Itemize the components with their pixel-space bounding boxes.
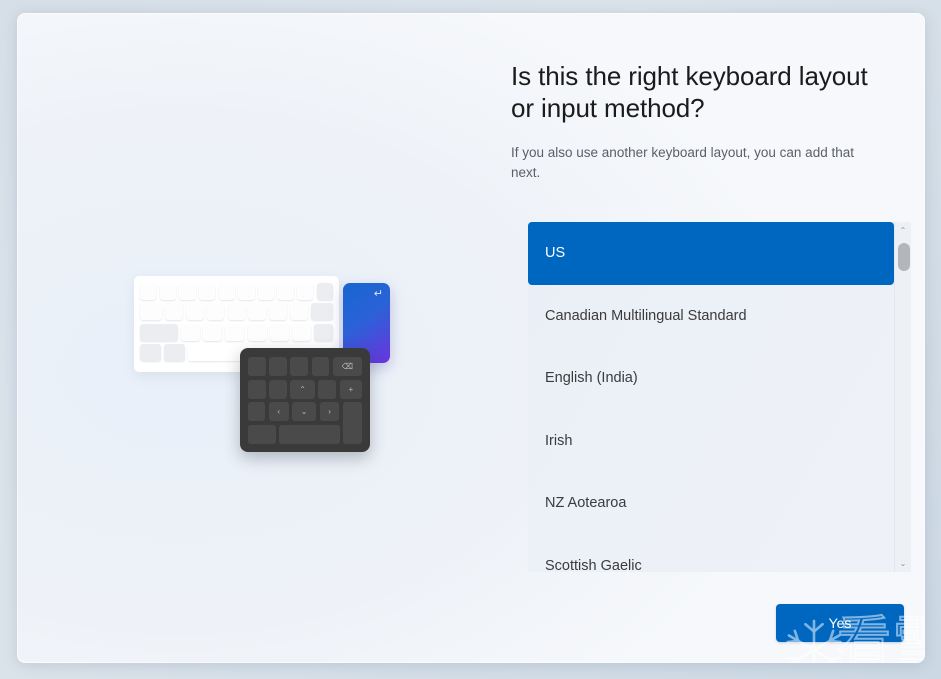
key — [269, 303, 287, 320]
arrow-left-icon: ‹ — [269, 402, 289, 421]
key — [179, 283, 195, 300]
key — [248, 324, 267, 341]
numpad-key — [248, 357, 266, 376]
key-modifier — [311, 303, 333, 320]
keyboard-row — [140, 283, 333, 300]
plus-icon: + — [340, 380, 362, 399]
key — [199, 283, 215, 300]
key — [207, 303, 225, 320]
key — [186, 303, 204, 320]
key — [292, 324, 311, 341]
key — [160, 283, 176, 300]
numpad-key — [312, 357, 330, 376]
key — [165, 303, 183, 320]
scrollbar-thumb[interactable] — [898, 243, 910, 271]
key-modifier — [140, 324, 178, 341]
numpad-graphic: ⌫ ⌃ + ‹ ⌄ › — [240, 348, 370, 452]
scroll-up-icon[interactable]: ⌃ — [895, 222, 912, 239]
numpad-key — [269, 357, 287, 376]
list-item-label: US — [545, 245, 565, 261]
list-item-label: Scottish Gaelic — [545, 558, 642, 572]
enter-arrow-icon: ↵ — [374, 289, 383, 300]
arrow-up-icon: ⌃ — [290, 380, 314, 399]
key — [258, 283, 274, 300]
list-item-label: English (India) — [545, 370, 638, 386]
numpad-key — [290, 357, 308, 376]
scroll-down-icon[interactable]: ⌄ — [895, 555, 912, 572]
key — [290, 303, 308, 320]
key — [248, 303, 266, 320]
list-item-irish[interactable]: Irish — [528, 410, 894, 473]
list-item-canadian-multilingual-standard[interactable]: Canadian Multilingual Standard — [528, 285, 894, 348]
key — [181, 324, 200, 341]
numpad-row: ⌫ — [248, 357, 362, 376]
keyboard-layout-list[interactable]: US Canadian Multilingual Standard Englis… — [528, 222, 894, 572]
numpad-row — [248, 425, 340, 444]
page-subtitle: If you also use another keyboard layout,… — [511, 143, 873, 184]
page-title: Is this the right keyboard layout or inp… — [511, 61, 891, 125]
key — [277, 283, 293, 300]
numpad-key — [248, 402, 265, 421]
key-modifier — [317, 283, 333, 300]
backspace-icon: ⌫ — [333, 357, 362, 376]
key-modifier — [164, 344, 185, 361]
key — [140, 303, 162, 320]
key — [225, 324, 244, 341]
yes-button[interactable]: Yes — [776, 604, 904, 642]
keyboard-row — [140, 303, 333, 320]
numpad-key — [248, 425, 276, 444]
list-item-label: Canadian Multilingual Standard — [545, 308, 747, 324]
key — [140, 283, 156, 300]
numpad-key — [318, 380, 336, 399]
list-item-nz-aotearoa[interactable]: NZ Aotearoa — [528, 472, 894, 535]
key — [238, 283, 254, 300]
key — [228, 303, 246, 320]
numpad-enter-key — [343, 402, 362, 444]
numpad-key — [269, 380, 287, 399]
numpad-left-cluster: ‹ ⌄ › — [248, 402, 340, 444]
arrow-down-icon: ⌄ — [292, 402, 316, 421]
keyboard-layout-list-container: US Canadian Multilingual Standard Englis… — [528, 222, 911, 572]
key — [203, 324, 222, 341]
key — [270, 324, 289, 341]
key-modifier — [314, 324, 333, 341]
numpad-row: ‹ ⌄ › — [248, 402, 340, 421]
list-scrollbar[interactable]: ⌃ ⌄ — [894, 222, 911, 572]
keyboard-illustration: ↵ ⌫ ⌃ + ‹ — [112, 258, 412, 468]
list-item-label: NZ Aotearoa — [545, 495, 626, 511]
content-header: Is this the right keyboard layout or inp… — [511, 61, 911, 183]
numpad-key-zero — [279, 425, 339, 444]
numpad-row: ‹ ⌄ › — [248, 402, 362, 444]
key — [297, 283, 313, 300]
oobe-panel: ↵ ⌫ ⌃ + ‹ — [17, 13, 925, 663]
list-item-us[interactable]: US — [528, 222, 894, 285]
keyboard-row — [140, 324, 333, 341]
list-item-scottish-gaelic[interactable]: Scottish Gaelic — [528, 535, 894, 573]
arrow-right-icon: › — [320, 402, 340, 421]
key — [219, 283, 235, 300]
numpad-row: ⌃ + — [248, 380, 362, 399]
list-item-english-india[interactable]: English (India) — [528, 347, 894, 410]
list-item-label: Irish — [545, 433, 572, 449]
scrollbar-track[interactable] — [895, 239, 911, 555]
key-modifier — [140, 344, 161, 361]
numpad-key — [248, 380, 266, 399]
